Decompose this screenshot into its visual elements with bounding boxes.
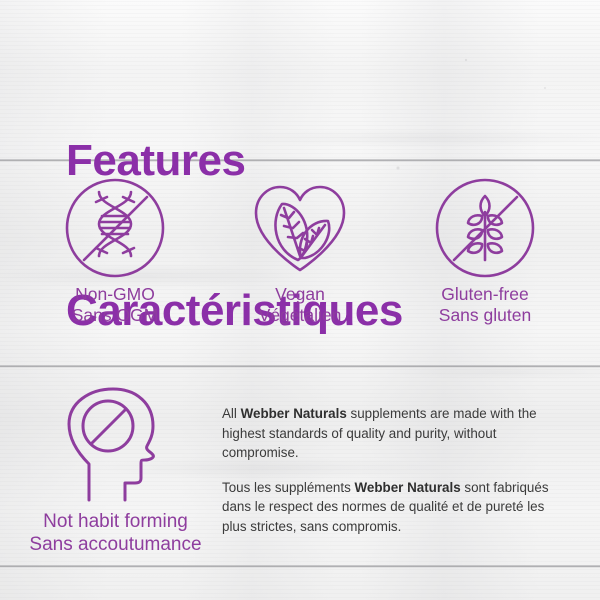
feature-not-habit-forming: Not habit forming Sans accoutumance — [8, 386, 223, 556]
feature-gluten-free: Gluten-free Sans gluten — [400, 172, 570, 326]
body-copy-fr-brand: Webber Naturals — [355, 480, 461, 495]
feature-gluten-free-label-en: Gluten-free — [441, 284, 529, 304]
feature-not-habit-forming-label-en: Not habit forming — [43, 511, 188, 532]
feature-gluten-free-label-fr: Sans gluten — [400, 305, 570, 326]
feature-vegan-label-fr: Végétalien — [215, 305, 385, 326]
feature-non-gmo-caption: Non-GMO Sans OGM — [30, 284, 200, 326]
body-copy-en-brand: Webber Naturals — [241, 406, 347, 421]
dna-no-circle-icon — [30, 172, 200, 284]
feature-non-gmo-label-en: Non-GMO — [75, 284, 155, 304]
feature-gluten-free-caption: Gluten-free Sans gluten — [400, 284, 570, 326]
feature-not-habit-forming-caption: Not habit forming Sans accoutumance — [8, 510, 223, 556]
heart-leaves-icon — [215, 172, 385, 284]
feature-vegan-caption: Vegan Végétalien — [215, 284, 385, 326]
wheat-no-circle-icon — [400, 172, 570, 284]
feature-vegan-label-en: Vegan — [275, 284, 325, 304]
feature-non-gmo: Non-GMO Sans OGM — [30, 172, 200, 326]
body-copy-en-before: All — [222, 406, 241, 421]
feature-non-gmo-label-fr: Sans OGM — [30, 305, 200, 326]
body-copy-en: All Webber Naturals supplements are made… — [222, 404, 570, 463]
feature-vegan: Vegan Végétalien — [215, 172, 385, 326]
feature-not-habit-forming-label-fr: Sans accoutumance — [8, 533, 223, 556]
feature-panel: Features Caractéristiques — [0, 0, 600, 600]
body-copy-fr-before: Tous les suppléments — [222, 480, 355, 495]
body-copy-fr: Tous les suppléments Webber Naturals son… — [222, 478, 570, 537]
head-profile-prohibited-icon — [8, 386, 223, 504]
body-copy: All Webber Naturals supplements are made… — [222, 404, 570, 536]
